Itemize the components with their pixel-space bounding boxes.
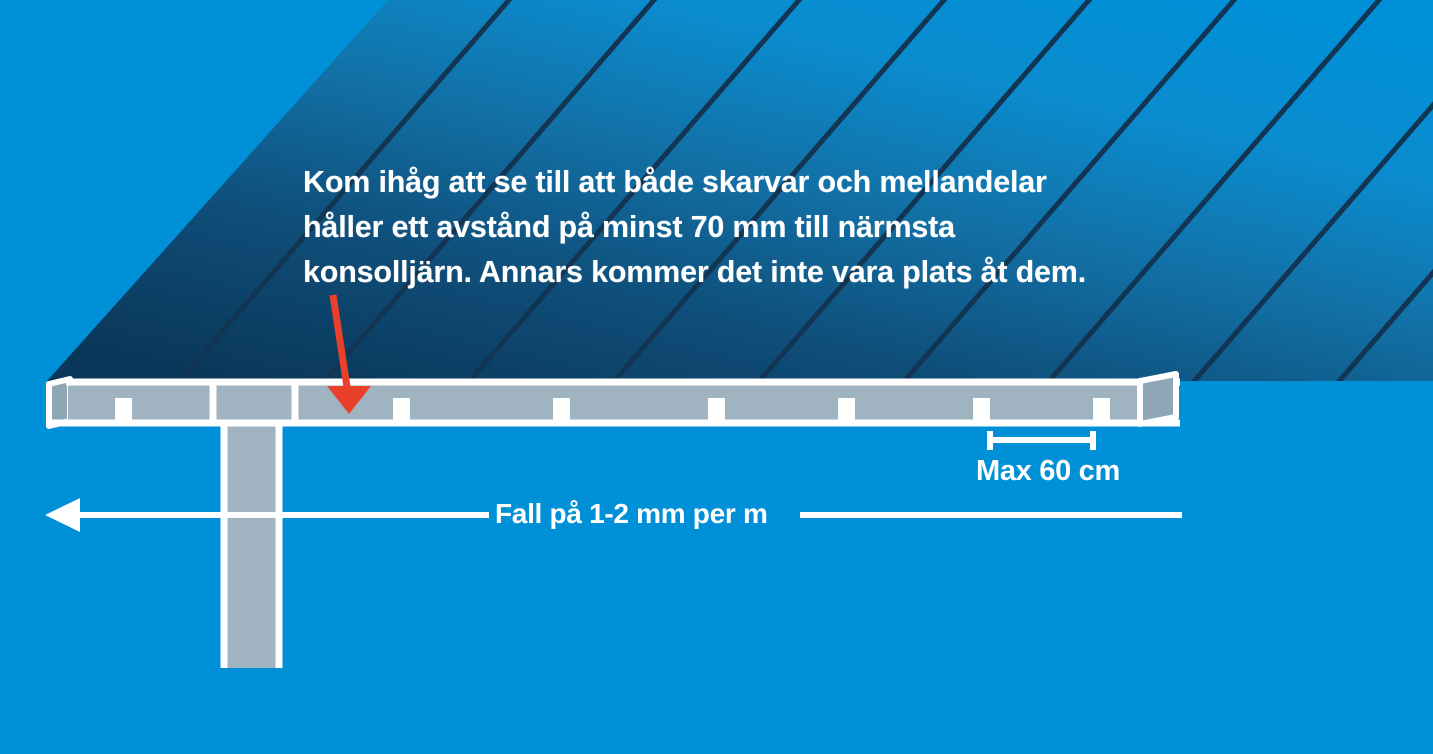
downpipe — [224, 420, 279, 668]
gutter-installation-diagram — [0, 0, 1433, 754]
bracket-notch — [973, 398, 990, 424]
bracket-notch — [1093, 398, 1110, 424]
bracket-notch — [708, 398, 725, 424]
bracket-notch — [838, 398, 855, 424]
bracket-notch — [115, 398, 132, 424]
illustration-canvas: Kom ihåg att se till att både skarvar oc… — [0, 0, 1433, 754]
gutter-assembly — [47, 374, 1180, 426]
fall-slope-label: Fall på 1-2 mm per m — [495, 498, 768, 530]
downpipe-body — [224, 420, 279, 668]
gutter-body — [68, 381, 1176, 424]
callout-text: Kom ihåg att se till att både skarvar oc… — [303, 160, 1203, 295]
bracket-notch — [553, 398, 570, 424]
gutter-end-cap-left — [49, 379, 70, 426]
gutter-end-cap-right — [1140, 374, 1176, 424]
max-spacing-label: Max 60 cm — [976, 455, 1120, 488]
bracket-notch — [393, 398, 410, 424]
